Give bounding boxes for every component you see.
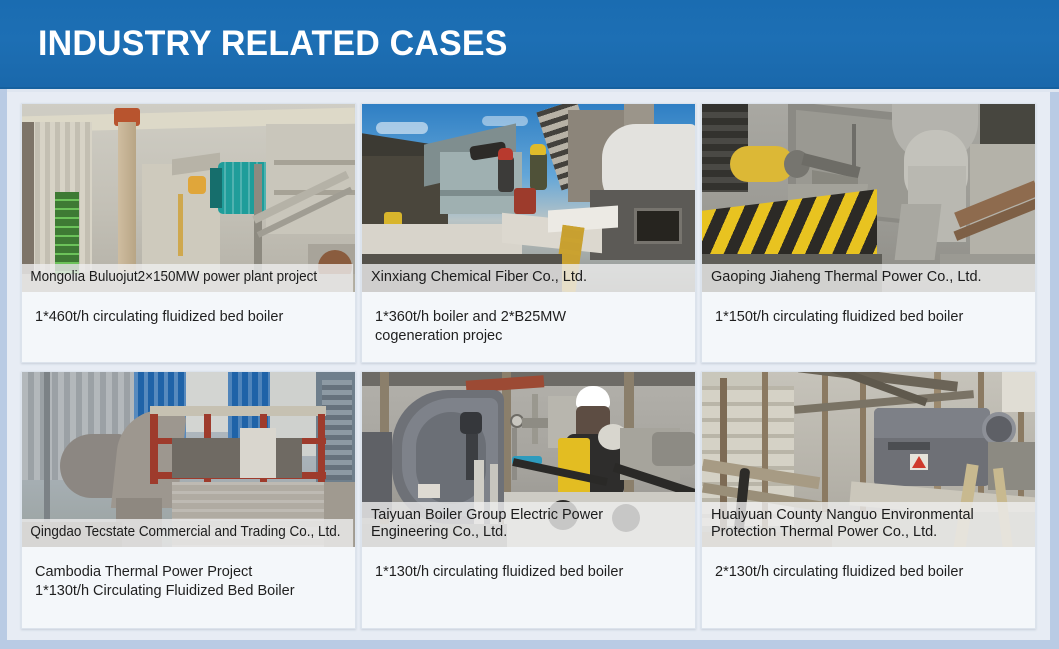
case-card[interactable]: Qingdao Tecstate Commercial and Trading … [21,371,356,629]
case-caption: Qingdao Tecstate Commercial and Trading … [22,519,353,547]
case-card[interactable]: Huaiyuan County Nanguo Environmental Pro… [701,371,1036,629]
case-caption: Huaiyuan County Nanguo Environmental Pro… [702,502,1035,547]
case-description: 1*360t/h boiler and 2*B25MW cogeneration… [362,292,695,362]
case-photo: Xinxiang Chemical Fiber Co., Ltd. [362,104,695,292]
case-caption: Taiyuan Boiler Group Electric Power Engi… [362,502,695,547]
case-description: 1*150t/h circulating fluidized bed boile… [702,292,1035,362]
page-title: INDUSTRY RELATED CASES [38,24,508,64]
case-card[interactable]: Xinxiang Chemical Fiber Co., Ltd. 1*360t… [361,103,696,363]
cases-grid: Mongolia Buluojut2×150MW power plant pro… [21,103,1040,629]
case-photo: Gaoping Jiaheng Thermal Power Co., Ltd. [702,104,1035,292]
case-photo: Qingdao Tecstate Commercial and Trading … [22,372,355,547]
case-card[interactable]: Mongolia Buluojut2×150MW power plant pro… [21,103,356,363]
page-header: INDUSTRY RELATED CASES [0,0,1059,89]
case-caption: Mongolia Buluojut2×150MW power plant pro… [22,264,353,292]
case-description: 1*460t/h circulating fluidized bed boile… [22,292,355,362]
case-caption: Xinxiang Chemical Fiber Co., Ltd. [362,264,695,292]
case-card[interactable]: Gaoping Jiaheng Thermal Power Co., Ltd. … [701,103,1036,363]
page-root: INDUSTRY RELATED CASES [0,0,1059,649]
case-description: 2*130t/h circulating fluidized bed boile… [702,547,1035,628]
case-card[interactable]: Taiyuan Boiler Group Electric Power Engi… [361,371,696,629]
case-caption: Gaoping Jiaheng Thermal Power Co., Ltd. [702,264,1035,292]
case-description: Cambodia Thermal Power Project 1*130t/h … [22,547,355,628]
cases-content-area: Mongolia Buluojut2×150MW power plant pro… [0,89,1059,649]
case-description: 1*130t/h circulating fluidized bed boile… [362,547,695,628]
case-photo: Mongolia Buluojut2×150MW power plant pro… [22,104,355,292]
case-photo: Taiyuan Boiler Group Electric Power Engi… [362,372,695,547]
case-photo: Huaiyuan County Nanguo Environmental Pro… [702,372,1035,547]
